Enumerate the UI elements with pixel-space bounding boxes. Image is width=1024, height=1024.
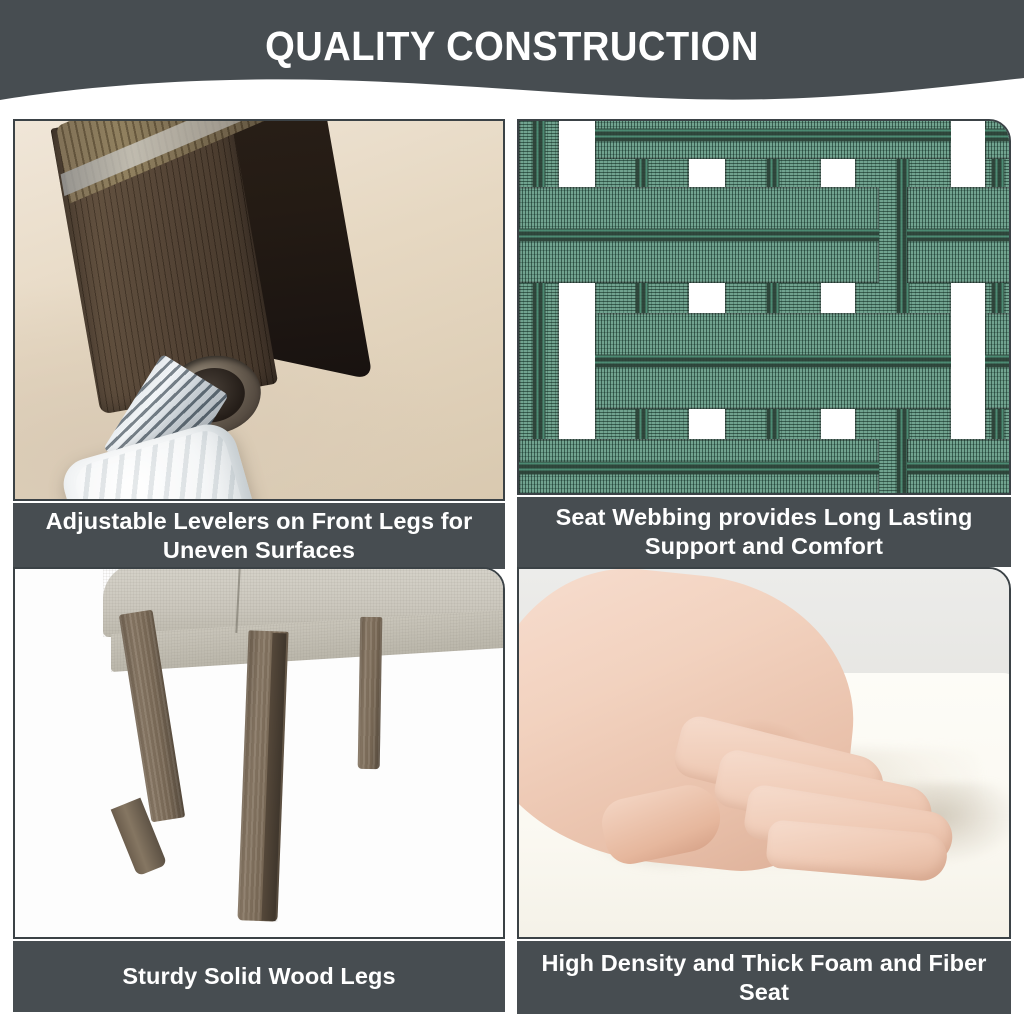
seat-webbing-weave [519, 121, 1009, 493]
chair-leg-right [358, 617, 383, 769]
webbing-strap-horizontal [985, 313, 1011, 409]
foam-seat-photo [517, 567, 1011, 939]
webbing-stripe [985, 129, 1011, 142]
feature-card-levelers: Adjustable Levelers on Front Legs for Un… [13, 119, 505, 569]
webbing-stripe [519, 229, 879, 242]
wood-legs-photo [13, 567, 505, 939]
webbing-strap-horizontal [519, 187, 879, 283]
webbing-strap-horizontal [907, 439, 1011, 495]
webbing-strap-horizontal [985, 119, 1011, 159]
webbing-strap-horizontal [595, 313, 951, 409]
webbing-stripe [907, 462, 1011, 475]
page-header: QUALITY CONSTRUCTION [0, 0, 1024, 112]
chair-legs-scene [15, 569, 503, 937]
foam-seat-caption: High Density and Thick Foam and Fiber Se… [517, 941, 1011, 1014]
foam-scene [519, 569, 1009, 937]
webbing-stripe [595, 355, 951, 368]
webbing-stripe [907, 229, 1011, 242]
levelers-photo [13, 119, 505, 501]
webbing-stripe [595, 129, 951, 142]
webbing-strap-horizontal [907, 187, 1011, 283]
levelers-caption: Adjustable Levelers on Front Legs for Un… [13, 503, 505, 569]
webbing-photo [517, 119, 1011, 495]
feature-grid: Adjustable Levelers on Front Legs for Un… [0, 106, 1024, 1024]
page-title: QUALITY CONSTRUCTION [36, 23, 988, 70]
webbing-stripe [519, 462, 879, 475]
webbing-caption: Seat Webbing provides Long Lasting Suppo… [517, 497, 1011, 567]
webbing-strap-horizontal [519, 439, 879, 495]
feature-card-foam-seat: High Density and Thick Foam and Fiber Se… [517, 567, 1011, 1012]
webbing-strap-horizontal [595, 119, 951, 159]
feature-card-webbing: Seat Webbing provides Long Lasting Suppo… [517, 119, 1011, 569]
feature-card-wood-legs: Sturdy Solid Wood Legs [13, 567, 505, 1012]
leveler-scene [15, 121, 503, 499]
webbing-stripe [985, 355, 1011, 368]
wood-legs-caption: Sturdy Solid Wood Legs [13, 941, 505, 1012]
